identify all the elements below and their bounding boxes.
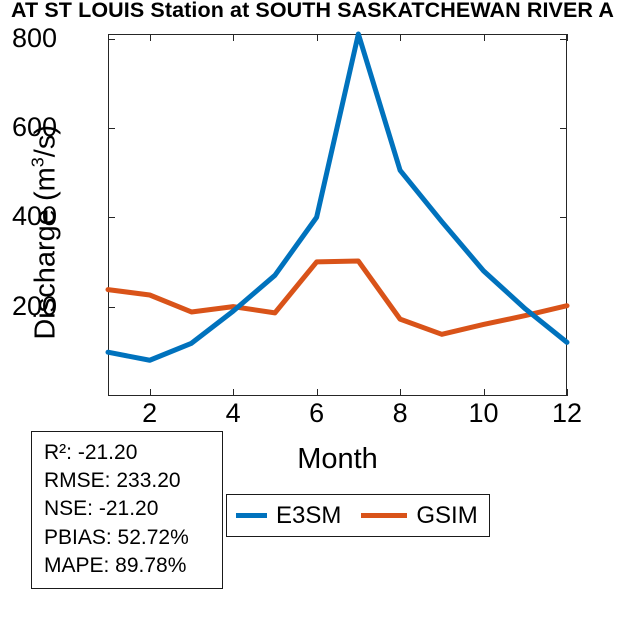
legend-item-gsim[interactable]: GSIM [361, 504, 477, 528]
metric-pbias: PBIAS: 52.72% [44, 524, 212, 552]
chart-legend[interactable]: E3SM GSIM [226, 494, 490, 537]
metric-r2: R²: -21.20 [44, 439, 212, 467]
x-tick-label-8: 8 [360, 400, 440, 427]
legend-label-gsim: GSIM [416, 504, 477, 528]
series-line-gsim [108, 261, 567, 334]
legend-swatch-e3sm-icon [236, 513, 267, 518]
y-axis-label-exponent: 3 [28, 157, 48, 167]
series-line-e3sm [108, 34, 567, 360]
plot-lines [108, 34, 567, 396]
metric-pbias-text: PBIAS: 52.72% [44, 526, 189, 549]
x-tick-label-4: 4 [193, 400, 273, 427]
y-tick-label-800: 800 [12, 25, 57, 52]
legend-label-e3sm: E3SM [276, 504, 341, 528]
metric-rmse: RMSE: 233.20 [44, 467, 212, 495]
chart-title: AT ST LOUIS Station at SOUTH SASKATCHEWA… [11, 0, 614, 23]
chart-figure: AT ST LOUIS Station at SOUTH SASKATCHEWA… [0, 0, 625, 625]
y-axis-label: Discharge (m3/s) [28, 52, 63, 412]
x-tick-label-6: 6 [277, 400, 357, 427]
metric-mape: MAPE: 89.78% [44, 552, 212, 580]
x-tick-label-10: 10 [444, 400, 524, 427]
legend-item-e3sm[interactable]: E3SM [236, 504, 341, 528]
y-tick-label-600: 600 [12, 114, 57, 141]
metric-nse-text: NSE: -21.20 [44, 497, 158, 520]
metric-nse: NSE: -21.20 [44, 495, 212, 523]
y-tick-label-200: 200 [12, 293, 57, 320]
legend-swatch-gsim-icon [361, 513, 407, 518]
x-tick-label-2: 2 [110, 400, 190, 427]
y-tick-label-400: 400 [12, 203, 57, 230]
x-tick-label-12: 12 [527, 400, 607, 427]
x-tick-top-12 [567, 34, 568, 41]
metrics-box: R²: -21.20 RMSE: 233.20 NSE: -21.20 PBIA… [31, 431, 223, 589]
metric-mape-text: MAPE: 89.78% [44, 554, 186, 577]
x-tick-12 [567, 389, 568, 396]
metric-r2-text: R²: -21.20 [44, 441, 137, 464]
metric-rmse-text: RMSE: 233.20 [44, 469, 181, 492]
